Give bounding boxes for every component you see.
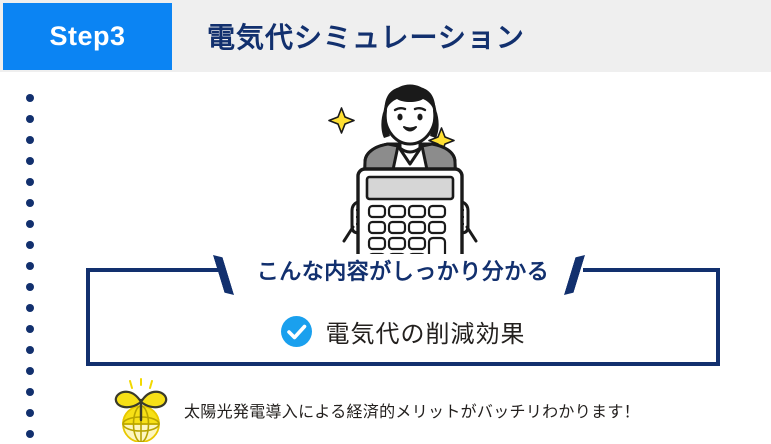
woman-head: [381, 86, 438, 144]
rail-dot: [26, 136, 34, 144]
rail-dot: [26, 199, 34, 207]
rail-dot: [26, 430, 34, 438]
woman-holding-calculator-illustration: [320, 84, 500, 262]
calculator-illustration: [358, 169, 462, 262]
check-circle-icon: [281, 316, 312, 347]
footer-note-text: 太陽光発電導入による経済的メリットがバッチリわかります！: [184, 398, 640, 422]
page-title: 電気代シミュレーション: [207, 0, 525, 72]
step-badge-label: Step3: [49, 21, 125, 52]
dotted-rail: [26, 94, 36, 444]
rail-dot: [26, 367, 34, 375]
step-badge: Step3: [3, 3, 172, 70]
footer-note: 太陽光発電導入による経済的メリットがバッチリわかります！: [108, 376, 748, 444]
rail-dot: [26, 178, 34, 186]
rail-dot: [26, 388, 34, 396]
rail-dot: [26, 409, 34, 417]
rail-dot: [26, 94, 34, 102]
rail-dot: [26, 262, 34, 270]
rail-dot: [26, 304, 34, 312]
rail-dot: [26, 325, 34, 333]
content-list-item: 電気代の削減効果: [86, 300, 720, 362]
rail-dot: [26, 220, 34, 228]
sprout-globe-icon: [108, 378, 174, 442]
rail-dot: [26, 283, 34, 291]
rail-dot: [26, 241, 34, 249]
box-heading: こんな内容がしっかり分かる: [223, 254, 584, 286]
header-band: Step3 電気代シミュレーション: [0, 0, 771, 72]
rail-dot: [26, 115, 34, 123]
content-list-item-label: 電気代の削減効果: [326, 314, 526, 349]
sparkle-icon-left: [329, 108, 354, 133]
rail-dot: [26, 346, 34, 354]
rail-dot: [26, 157, 34, 165]
box-heading-wrap: こんな内容がしっかり分かる: [86, 252, 720, 288]
step3-simulation-panel: Step3 電気代シミュレーション: [0, 0, 771, 444]
